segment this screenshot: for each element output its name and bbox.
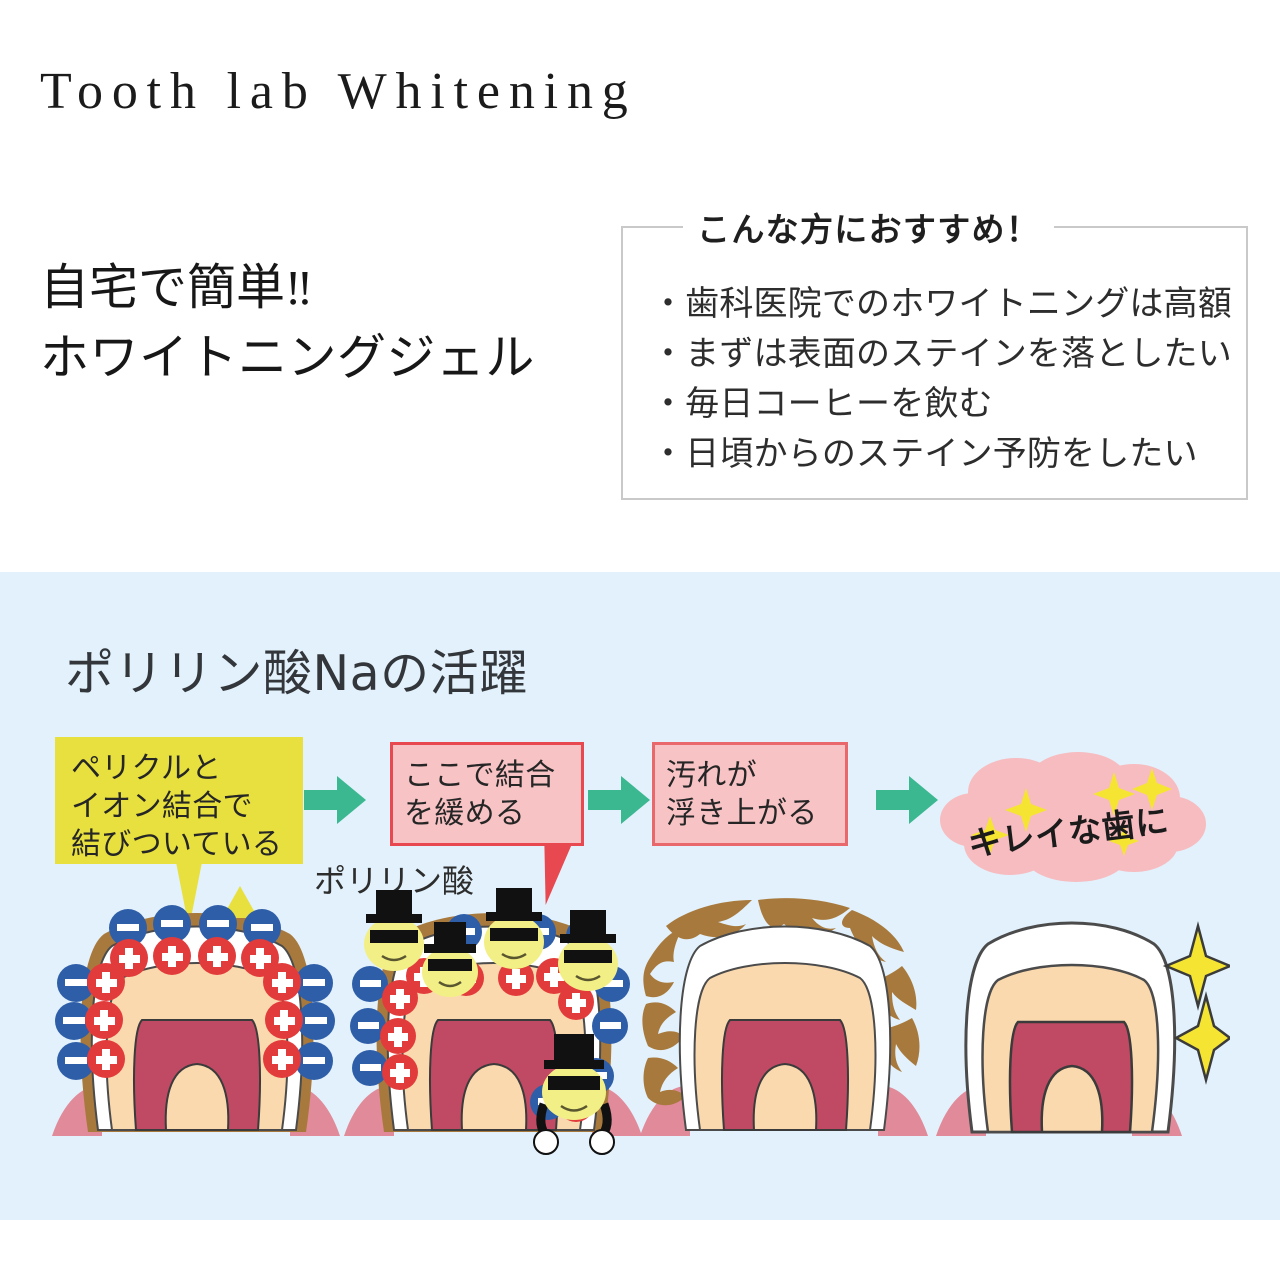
callout-step-2: ここで結合 を緩める [390,742,584,846]
tooth-diagram-step-2 [338,880,650,1176]
callout-step-3: 汚れが 浮き上がる [652,742,848,846]
callout-line: を緩める [404,795,556,833]
callout-step-2-text: ここで結合 を緩める [404,757,556,833]
callout-step-3-text: 汚れが 浮き上がる [666,757,818,833]
callout-step-1: ペリクルと イオン結合で 結びついている [55,737,303,864]
callout-line: 浮き上がる [666,795,818,833]
page-title: Tooth lab Whitening [40,62,637,121]
recommend-list: ・歯科医院でのホワイトニングは高額 ・まずは表面のステインを落としたい ・毎日コ… [651,280,1251,480]
tooth-diagram-step-4 [930,900,1230,1176]
panel-heading: ポリリン酸Naの活躍 [65,634,529,705]
list-item: ・毎日コーヒーを飲む [651,380,1251,430]
callout-step-1-text: ペリクルと イオン結合で 結びついている [71,750,282,863]
tooth-diagram-step-1 [44,886,348,1176]
arrow-right-icon [304,776,366,824]
tooth-diagram-step-3 [634,886,934,1176]
callout-line: ペリクルと [71,750,282,788]
arrow-right-icon [588,776,650,824]
lede-text: 自宅で簡単‼ ホワイトニングジェル [40,253,535,392]
arrow-right-icon [876,776,938,824]
recommend-box-title: こんな方におすすめ！ [683,203,1054,251]
lede-line-2: ホワイトニングジェル [40,323,535,393]
list-item: ・歯科医院でのホワイトニングは高額 [651,280,1251,330]
callout-line: ここで結合 [404,757,556,795]
list-item: ・まずは表面のステインを落としたい [651,330,1251,380]
callout-line: イオン結合で [71,788,282,826]
callout-line: 汚れが [666,757,818,795]
callout-line: 結びついている [71,826,282,864]
list-item: ・日頃からのステイン予防をしたい [651,430,1251,480]
lede-line-1: 自宅で簡単‼ [40,253,535,323]
